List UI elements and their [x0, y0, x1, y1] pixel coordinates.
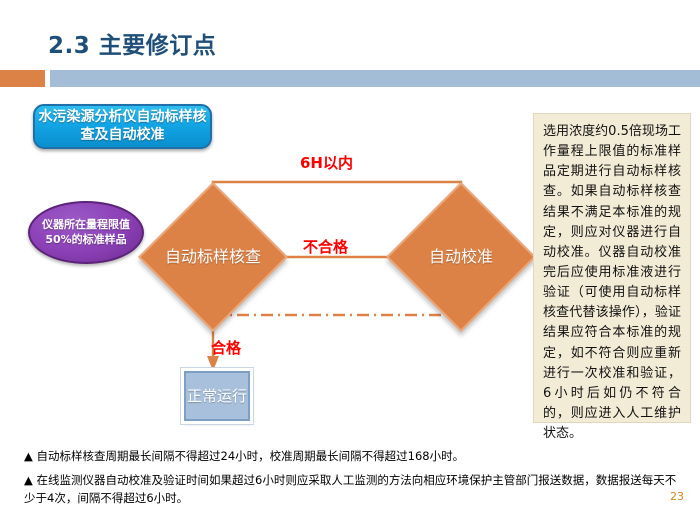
edge-label-pass: 合格 [211, 337, 241, 358]
edge-label-within-6h: 6H以内 [300, 152, 353, 173]
decision-auto-calibration: 自动校准 [408, 204, 514, 310]
edge-label-fail: 不合格 [303, 236, 348, 257]
connector-6h-bracket [213, 182, 461, 186]
bottom-note-2: ▲ 在线监测仪器自动校准及验证时间如果超过6小时则应采取人工监测的方法向相应环境… [24, 471, 682, 508]
note-panel: 选用浓度约0.5倍现场工作量程上限值的标准样品定期进行自动标样核查。如果自动标样… [533, 113, 691, 423]
standard-sample-label: 仪器所在量程限值50%的标准样品 [30, 218, 142, 247]
topic-box-label: 水污染源分析仪自动标样核查及自动校准 [35, 109, 210, 144]
page-number: 23 [670, 490, 684, 503]
decision-auto-standard-check: 自动标样核查 [160, 204, 266, 310]
bottom-note-1: ▲ 自动标样核查周期最长间隔不得超过24小时，校准周期最长间隔不得超过168小时… [24, 447, 682, 465]
normal-operation-box: 正常运行 [184, 371, 250, 421]
decision-calibration-label: 自动校准 [429, 247, 493, 267]
topic-box: 水污染源分析仪自动标样核查及自动校准 [33, 104, 212, 149]
header-accent-block [0, 70, 45, 87]
normal-operation-label: 正常运行 [187, 387, 247, 406]
decision-check-label: 自动标样核查 [165, 247, 261, 267]
note-panel-body: 选用浓度约0.5倍现场工作量程上限值的标准样品定期进行自动标样核查。如果自动标样… [543, 122, 681, 444]
standard-sample-oval: 仪器所在量程限值50%的标准样品 [28, 201, 144, 264]
header-rule [50, 70, 700, 87]
arrowhead-pass [207, 356, 219, 371]
page-title: 2.3 主要修订点 [48, 26, 216, 60]
